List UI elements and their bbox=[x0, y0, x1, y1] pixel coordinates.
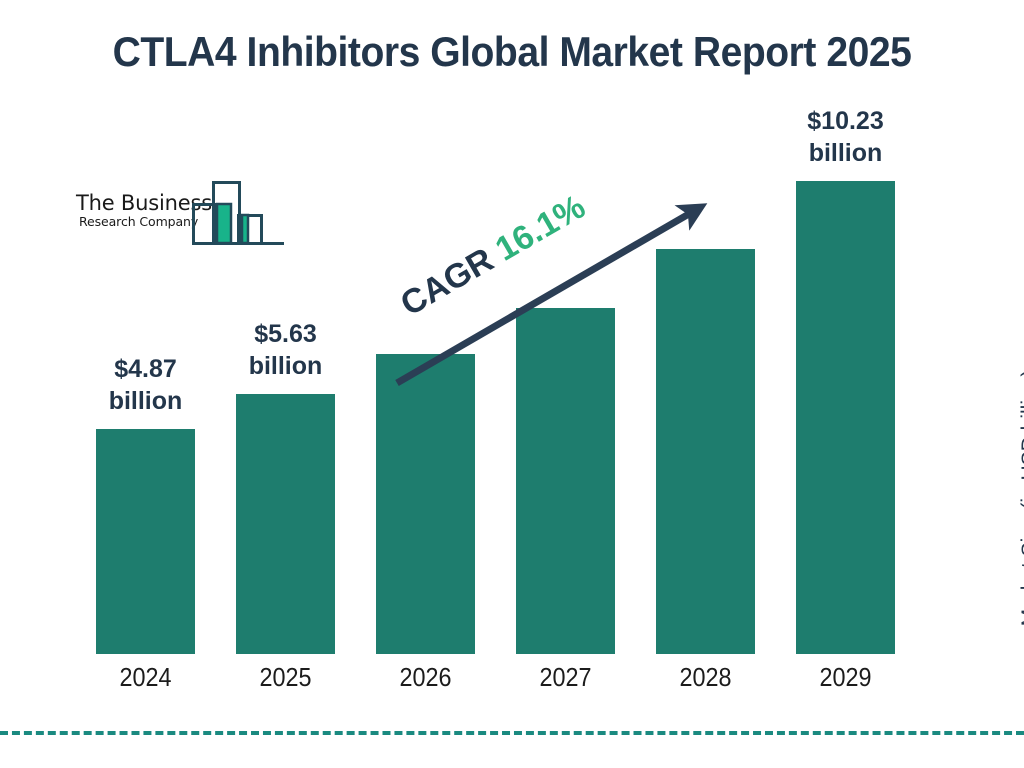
x-tick-2029: 2029 bbox=[801, 662, 890, 693]
cagr-annotation: CAGR 16.1% bbox=[394, 188, 592, 325]
bar-chart-logo-icon bbox=[192, 178, 284, 251]
bar-value-label-2025: $5.63billion bbox=[211, 318, 361, 382]
logo-line-2: Research Company bbox=[76, 214, 206, 229]
bar-2026 bbox=[376, 354, 475, 654]
bar-2025 bbox=[236, 394, 335, 654]
footer-divider bbox=[0, 731, 1024, 735]
bar-2024 bbox=[96, 429, 195, 654]
bar-value-label-2024: $4.87billion bbox=[71, 353, 221, 417]
bar-value-unit: billion bbox=[211, 350, 361, 382]
x-tick-2028: 2028 bbox=[661, 662, 750, 693]
x-tick-2027: 2027 bbox=[521, 662, 610, 693]
bar-value-unit: billion bbox=[771, 137, 921, 169]
bar-value-amount: $10.23 bbox=[771, 105, 921, 137]
y-axis-label: Market Size (in USD billion) bbox=[1018, 318, 1024, 678]
cagr-value: 16.1% bbox=[489, 188, 591, 269]
x-tick-2026: 2026 bbox=[381, 662, 470, 693]
x-tick-2025: 2025 bbox=[241, 662, 330, 693]
company-logo: The Business Research Company bbox=[76, 178, 288, 246]
bar-value-amount: $5.63 bbox=[211, 318, 361, 350]
cagr-label: CAGR bbox=[394, 241, 500, 324]
logo-text: The Business Research Company bbox=[76, 192, 206, 229]
logo-line-1: The Business bbox=[76, 192, 206, 214]
page-title: CTLA4 Inhibitors Global Market Report 20… bbox=[36, 28, 988, 76]
bar-2027 bbox=[516, 308, 615, 654]
bar-value-label-2029: $10.23billion bbox=[771, 105, 921, 169]
bar-2028 bbox=[656, 249, 755, 654]
bar-value-amount: $4.87 bbox=[71, 353, 221, 385]
chart-canvas: CTLA4 Inhibitors Global Market Report 20… bbox=[0, 0, 1024, 768]
x-tick-2024: 2024 bbox=[101, 662, 190, 693]
bar-value-unit: billion bbox=[71, 385, 221, 417]
bar-2029 bbox=[796, 181, 895, 654]
